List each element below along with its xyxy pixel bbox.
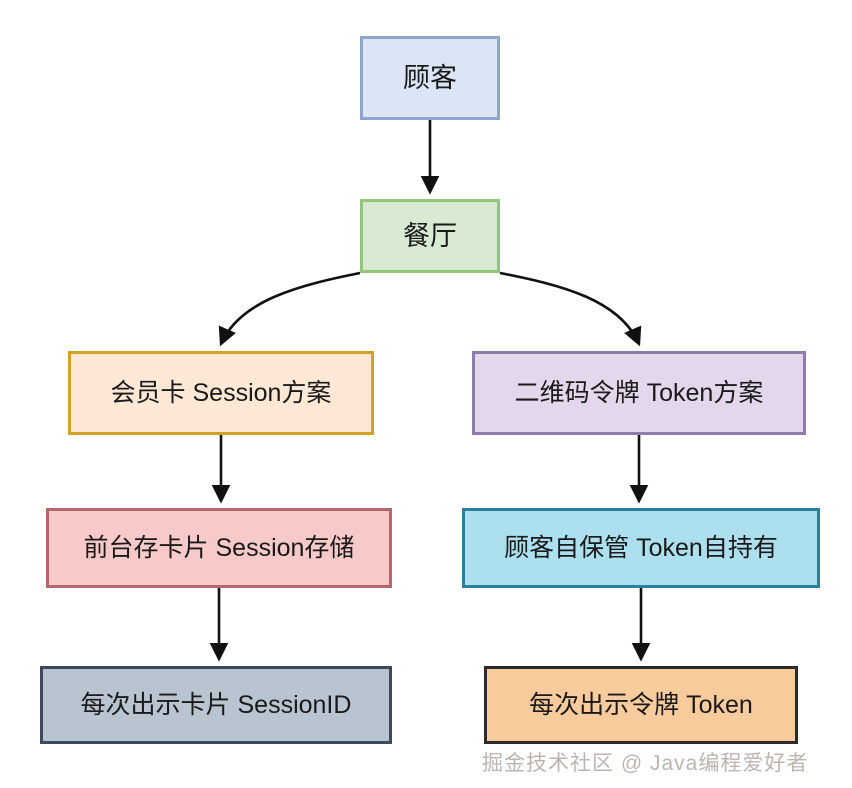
node-customer-label: 顾客	[403, 62, 457, 94]
edge-restaurant-to-token-plan	[500, 273, 639, 344]
edge-restaurant-to-session-plan	[221, 273, 360, 344]
node-token-show[interactable]: 每次出示令牌 Token	[484, 666, 798, 744]
node-token-show-label: 每次出示令牌 Token	[529, 690, 753, 720]
watermark: 掘金技术社区 @ Java编程爱好者	[482, 747, 808, 777]
node-session-id[interactable]: 每次出示卡片 SessionID	[40, 666, 392, 744]
node-session-id-label: 每次出示卡片 SessionID	[81, 690, 352, 720]
node-session-store[interactable]: 前台存卡片 Session存储	[46, 508, 392, 588]
node-token-hold[interactable]: 顾客自保管 Token自持有	[462, 508, 820, 588]
node-session-plan[interactable]: 会员卡 Session方案	[68, 351, 374, 435]
node-token-plan[interactable]: 二维码令牌 Token方案	[472, 351, 806, 435]
node-token-hold-label: 顾客自保管 Token自持有	[504, 533, 778, 563]
node-restaurant-label: 餐厅	[403, 220, 457, 252]
node-restaurant[interactable]: 餐厅	[360, 199, 500, 273]
flowchart-canvas: 顾客 餐厅 会员卡 Session方案 二维码令牌 Token方案 前台存卡片 …	[0, 0, 852, 788]
node-session-store-label: 前台存卡片 Session存储	[84, 533, 355, 563]
node-customer[interactable]: 顾客	[360, 36, 500, 120]
node-session-plan-label: 会员卡 Session方案	[111, 378, 332, 408]
node-token-plan-label: 二维码令牌 Token方案	[515, 378, 764, 408]
